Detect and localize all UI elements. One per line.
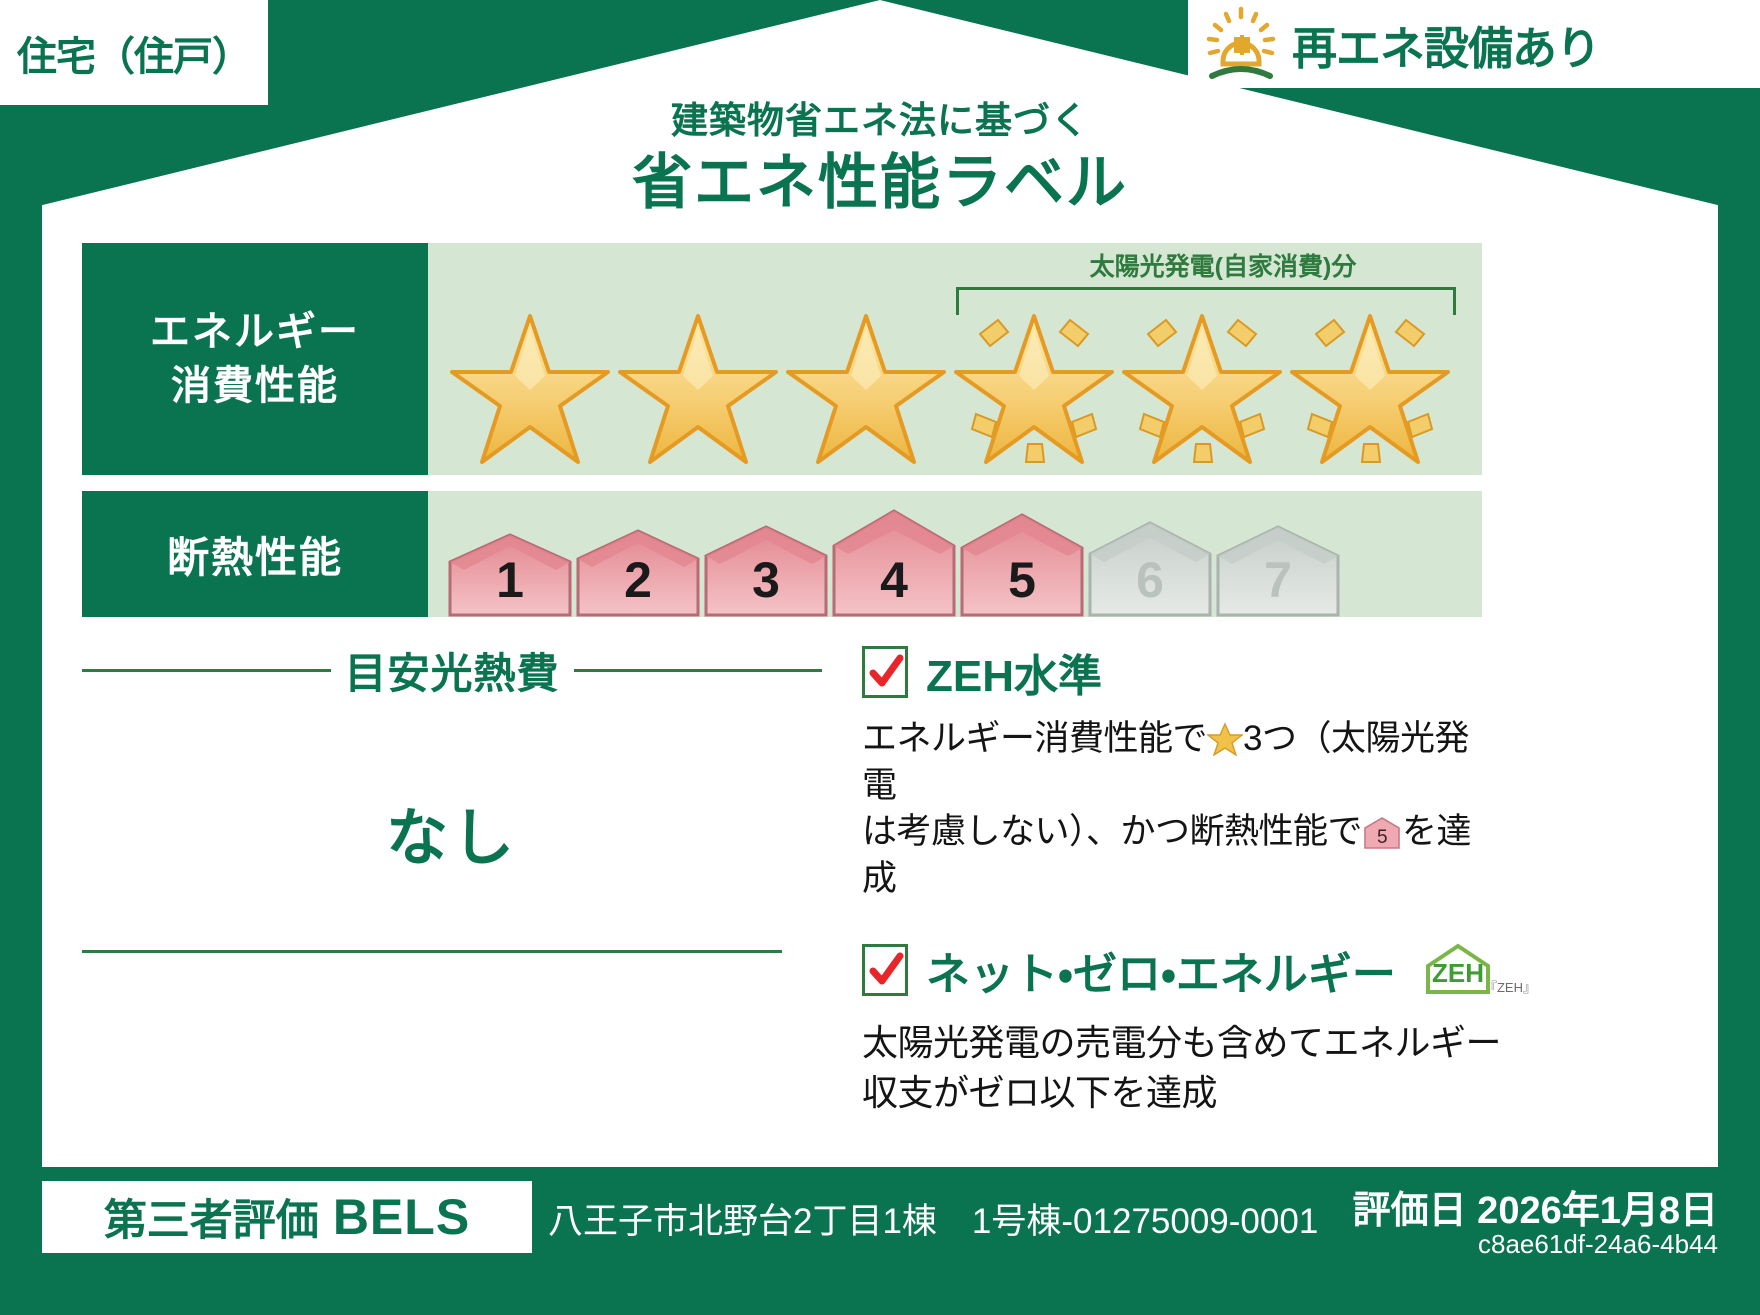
insulation-level-scale: 1 2 bbox=[446, 491, 1342, 617]
zeh-desc-b: は考慮しない）、かつ断熱性能で bbox=[862, 812, 1362, 851]
bels-label: 住宅（住戸） 再エネ設備あり bbox=[0, 0, 1760, 1315]
net-zero-row: ネット・ゼロ・エネルギー ZEH 『ZEH』 bbox=[862, 938, 1502, 1002]
bels-logo: 第三者評価 BELS bbox=[42, 1181, 532, 1253]
insulation-level-number: 2 bbox=[574, 551, 702, 609]
net-zero-desc-line2: 収支がゼロ以下を達成 bbox=[862, 1072, 1217, 1113]
energy-stars-area: 太陽光発電(自家消費)分 bbox=[428, 243, 1482, 475]
energy-star-rating bbox=[428, 289, 1482, 469]
net-zero-checkbox[interactable] bbox=[862, 944, 908, 996]
insulation-level-number: 1 bbox=[446, 551, 574, 609]
insulation-level-7: 7 bbox=[1214, 525, 1342, 617]
energy-label-line1: エネルギー bbox=[150, 305, 360, 359]
zeh-logo-icon: ZEH 『ZEH』 bbox=[1418, 942, 1530, 998]
insulation-level-number: 5 bbox=[958, 551, 1086, 609]
net-zero-description: 太陽光発電の売電分も含めてエネルギー 収支がゼロ以下を達成 bbox=[862, 1018, 1502, 1117]
title-subtitle: 建築物省エネ法に基づく bbox=[0, 100, 1760, 143]
zeh-standard-heading: ZEH水準 bbox=[926, 640, 1102, 704]
building-type-label: 住宅（住戸） bbox=[17, 24, 251, 82]
insulation-level-number: 3 bbox=[702, 551, 830, 609]
title-main: 省エネ性能ラベル bbox=[0, 147, 1760, 219]
page-title: 建築物省エネ法に基づく 省エネ性能ラベル bbox=[0, 100, 1760, 219]
zeh-standard-description: エネルギー消費性能で3つ（太陽光発電 は考慮しない）、かつ断熱性能で5を達成 bbox=[862, 716, 1502, 902]
energy-label-line2: 消費性能 bbox=[171, 359, 339, 413]
utility-cost-bottom-rule bbox=[82, 950, 782, 953]
energy-star-solar bbox=[1286, 294, 1454, 464]
insulation-level-6: 6 bbox=[1086, 521, 1214, 617]
insulation-level-number: 7 bbox=[1214, 551, 1342, 609]
zeh-block: ZEH水準 エネルギー消費性能で3つ（太陽光発電 は考慮しない）、かつ断熱性能で… bbox=[862, 640, 1502, 1118]
insulation-level-number: 4 bbox=[830, 551, 958, 609]
insulation-level-1: 1 bbox=[446, 533, 574, 617]
zeh-desc-a: エネルギー消費性能で bbox=[862, 719, 1207, 758]
energy-star-solar bbox=[1118, 294, 1286, 464]
energy-star bbox=[614, 294, 782, 464]
net-zero-desc-line1: 太陽光発電の売電分も含めてエネルギー bbox=[862, 1022, 1501, 1063]
insulation-level-4: 4 bbox=[830, 509, 958, 617]
energy-star-solar bbox=[950, 294, 1118, 464]
insulation-levels-area: 1 2 bbox=[428, 491, 1482, 617]
property-address: 八王子市北野台2丁目1棟 1号棟-01275009-0001 bbox=[548, 1193, 1318, 1244]
energy-star bbox=[446, 294, 614, 464]
solar-plug-icon bbox=[1198, 6, 1284, 82]
building-type-badge: 住宅（住戸） bbox=[0, 0, 268, 105]
insulation-level-2: 2 bbox=[574, 529, 702, 617]
utility-cost-title: 目安光熱費 bbox=[345, 640, 560, 701]
insulation-label-text: 断熱性能 bbox=[167, 524, 343, 585]
energy-star bbox=[782, 294, 950, 464]
energy-performance-row: エネルギー 消費性能 太陽光発電(自家消費)分 bbox=[82, 243, 1482, 475]
net-zero-heading: ネット・ゼロ・エネルギー bbox=[926, 938, 1396, 1002]
utility-cost-value: なし bbox=[82, 787, 822, 877]
utility-cost-header: 目安光熱費 bbox=[82, 640, 822, 701]
svg-text:『ZEH』: 『ZEH』 bbox=[1484, 980, 1530, 995]
renewable-label: 再エネ設備あり bbox=[1292, 12, 1600, 77]
footer: 第三者評価 BELS 八王子市北野台2丁目1棟 1号棟-01275009-000… bbox=[0, 1167, 1760, 1315]
third-party-eval-label: 第三者評価 bbox=[104, 1186, 319, 1248]
insulation-level-3: 3 bbox=[702, 525, 830, 617]
zeh-standard-row: ZEH水準 bbox=[862, 640, 1502, 704]
solar-bracket-label: 太陽光発電(自家消費)分 bbox=[988, 247, 1458, 283]
insulation-level-number: 6 bbox=[1086, 551, 1214, 609]
renewable-badge: 再エネ設備あり bbox=[1188, 0, 1760, 88]
insulation-level-5: 5 bbox=[958, 513, 1086, 617]
zeh-standard-checkbox[interactable] bbox=[862, 646, 908, 698]
rule-left bbox=[82, 669, 331, 672]
bels-text: BELS bbox=[333, 1188, 470, 1246]
energy-performance-label: エネルギー 消費性能 bbox=[82, 243, 428, 475]
certificate-id: c8ae61df-24a6-4b44 bbox=[1478, 1229, 1718, 1260]
insulation-performance-row: 断熱性能 1 bbox=[82, 491, 1482, 617]
inline-house-badge-icon: 5 bbox=[1362, 816, 1402, 850]
svg-text:ZEH: ZEH bbox=[1432, 958, 1484, 988]
evaluation-date: 評価日 2026年1月8日 bbox=[1353, 1179, 1718, 1234]
rule-right bbox=[574, 669, 823, 672]
insulation-performance-label: 断熱性能 bbox=[82, 491, 428, 617]
utility-cost-block: 目安光熱費 なし bbox=[82, 640, 822, 877]
svg-text:5: 5 bbox=[1377, 827, 1387, 848]
inline-star-icon bbox=[1207, 722, 1243, 756]
